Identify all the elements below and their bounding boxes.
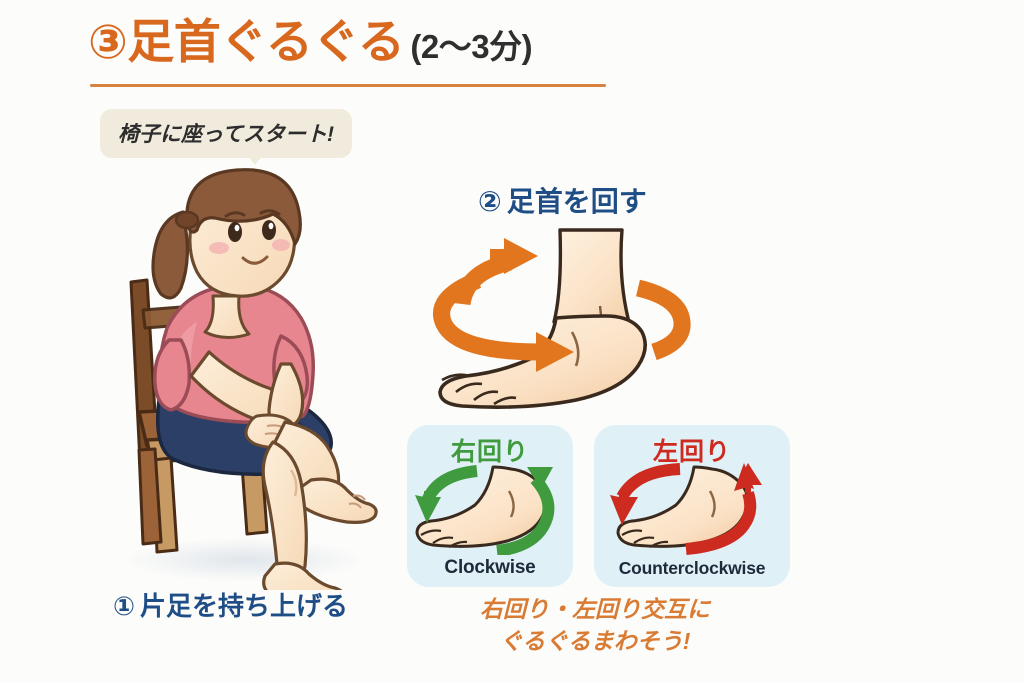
step-1-text: 片足を持ち上げる: [140, 591, 348, 621]
foot-raised: [297, 479, 376, 522]
title-duration: (2〜3分): [410, 28, 532, 65]
clockwise-arrow-head-bottom: [415, 491, 441, 523]
page-title: ③足首ぐるぐる(2〜3分): [88, 18, 708, 90]
bottom-caption-line1: 右回り・左回り交互に: [400, 594, 790, 626]
step-2-label: ②足首を回す: [478, 180, 647, 220]
ankle-rotation-illustration: [432, 222, 722, 417]
clockwise-arrow-left: [427, 471, 477, 501]
title-underline: [90, 84, 606, 87]
step-1-number: ①: [113, 591, 135, 622]
rotation-arrow-front-upper: [462, 262, 510, 304]
title-number: ③: [88, 15, 127, 68]
clockwise-foot-art: [407, 463, 573, 551]
counterclockwise-arrow-left: [622, 469, 680, 497]
poster-canvas: ③足首ぐるぐる(2〜3分) 椅子に座ってスタート!: [0, 0, 1024, 683]
counterclockwise-foot-art: [594, 463, 790, 551]
eye-left: [228, 222, 242, 242]
direction-card-clockwise: 右回り: [407, 425, 573, 587]
card-counterclockwise-caption: Counterclockwise: [594, 558, 790, 579]
title-text: 足首ぐるぐる: [127, 15, 404, 68]
bottom-caption: 右回り・左回り交互に ぐるぐるまわそう!: [400, 594, 790, 657]
step-2-text: 足首を回す: [507, 186, 647, 217]
card-clockwise-caption: Clockwise: [407, 557, 573, 579]
step-2-number: ②: [478, 185, 502, 218]
eye-right: [262, 220, 276, 240]
direction-card-counterclockwise: 左回り: [594, 425, 790, 587]
rotation-arrow-front-lower: [442, 280, 540, 352]
step-1-label: ①片足を持ち上げる: [113, 586, 348, 623]
woman-sitting-illustration: [95, 150, 395, 590]
bottom-caption-line2: ぐるぐるまわそう!: [400, 626, 790, 658]
